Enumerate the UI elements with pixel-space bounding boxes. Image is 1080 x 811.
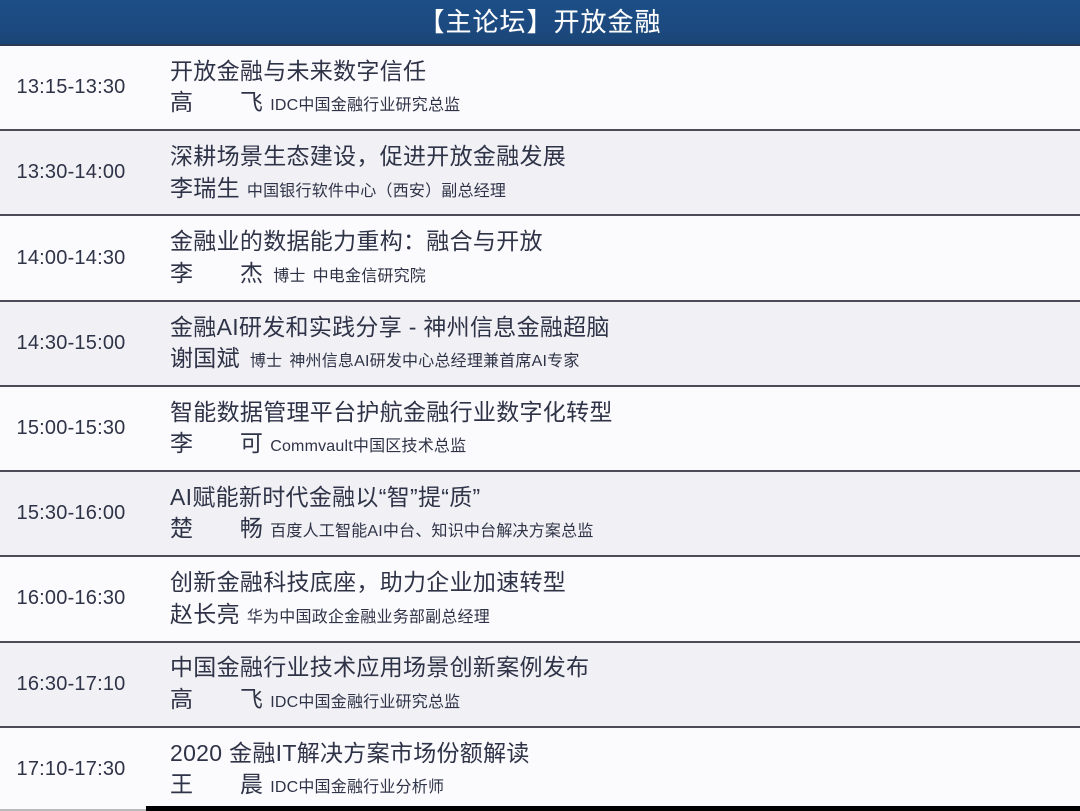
speaker-organization: IDC中国金融行业研究总监 [270, 693, 460, 714]
session-time-cell: 15:00-15:30 [0, 387, 146, 470]
session-time-cell: 17:10-17:30 [0, 728, 146, 811]
session-time: 13:30-14:00 [17, 161, 126, 184]
session-speaker-line: 李瑞生 中国银行软件中心（西安）副总经理 [170, 174, 1066, 204]
session-title: 创新金融科技底座，助力企业加速转型 [170, 568, 1066, 597]
session-detail-cell: 智能数据管理平台护航金融行业数字化转型 李 可 Commvault中国区技术总监 [146, 387, 1080, 470]
speaker-organization: 百度人工智能AI中台、知识中台解决方案总监 [270, 522, 593, 543]
speaker-name: 李 杰 [170, 259, 263, 289]
session-time-cell: 16:00-16:30 [0, 557, 146, 640]
table-row: 14:30-15:00 金融AI研发和实践分享 - 神州信息金融超脑 谢国斌 博… [0, 302, 1080, 387]
speaker-credential: 博士 [273, 267, 305, 288]
session-title: 开放金融与未来数字信任 [170, 57, 1066, 86]
session-detail-cell: 金融业的数据能力重构：融合与开放 李 杰 博士 中电金信研究院 [146, 216, 1080, 299]
speaker-organization: Commvault中国区技术总监 [270, 437, 466, 458]
session-speaker-line: 李 杰 博士 中电金信研究院 [170, 259, 1066, 289]
speaker-name: 高 飞 [170, 88, 263, 118]
session-speaker-line: 高 飞 IDC中国金融行业研究总监 [170, 685, 1066, 715]
table-row: 13:15-13:30 开放金融与未来数字信任 高 飞 IDC中国金融行业研究总… [0, 46, 1080, 131]
session-time: 13:15-13:30 [17, 76, 126, 99]
speaker-name: 谢国斌 [170, 344, 240, 374]
session-time: 14:30-15:00 [17, 332, 126, 355]
session-speaker-line: 王 晨 IDC中国金融行业分析师 [170, 770, 1066, 800]
table-row: 17:10-17:30 2020 金融IT解决方案市场份额解读 王 晨 IDC中… [0, 728, 1080, 811]
session-detail-cell: 创新金融科技底座，助力企业加速转型 赵长亮 华为中国政企金融业务部副总经理 [146, 557, 1080, 640]
table-row: 14:00-14:30 金融业的数据能力重构：融合与开放 李 杰 博士 中电金信… [0, 216, 1080, 301]
session-time: 16:00-16:30 [17, 587, 126, 610]
session-detail-cell: 深耕场景生态建设，促进开放金融发展 李瑞生 中国银行软件中心（西安）副总经理 [146, 131, 1080, 214]
session-time-cell: 13:30-14:00 [0, 131, 146, 214]
session-detail-cell: 开放金融与未来数字信任 高 飞 IDC中国金融行业研究总监 [146, 46, 1080, 129]
session-title: AI赋能新时代金融以“智”提“质” [170, 483, 1066, 512]
session-title: 深耕场景生态建设，促进开放金融发展 [170, 142, 1066, 171]
speaker-organization: 华为中国政企金融业务部副总经理 [247, 608, 490, 629]
session-detail-cell: 2020 金融IT解决方案市场份额解读 王 晨 IDC中国金融行业分析师 [146, 728, 1080, 811]
table-row: 16:30-17:10 中国金融行业技术应用场景创新案例发布 高 飞 IDC中国… [0, 643, 1080, 728]
session-title: 2020 金融IT解决方案市场份额解读 [170, 739, 1066, 768]
table-row: 15:30-16:00 AI赋能新时代金融以“智”提“质” 楚 畅 百度人工智能… [0, 472, 1080, 557]
session-time-cell: 14:00-14:30 [0, 216, 146, 299]
speaker-name: 楚 畅 [170, 514, 263, 544]
speaker-name: 高 飞 [170, 685, 263, 715]
agenda-card: 【主论坛】开放金融 13:15-13:30 开放金融与未来数字信任 高 飞 ID… [0, 0, 1080, 811]
speaker-organization: 神州信息AI研发中心总经理兼首席AI专家 [289, 352, 579, 373]
table-row: 15:00-15:30 智能数据管理平台护航金融行业数字化转型 李 可 Comm… [0, 387, 1080, 472]
session-title: 中国金融行业技术应用场景创新案例发布 [170, 653, 1066, 682]
page-title: 【主论坛】开放金融 [418, 9, 661, 35]
speaker-organization: 中国银行软件中心（西安）副总经理 [247, 182, 506, 203]
session-detail-cell: 中国金融行业技术应用场景创新案例发布 高 飞 IDC中国金融行业研究总监 [146, 643, 1080, 726]
session-time: 17:10-17:30 [17, 758, 126, 781]
speaker-name: 李瑞生 [170, 174, 240, 204]
speaker-name: 赵长亮 [170, 600, 240, 630]
bottom-rule [0, 806, 1080, 811]
session-time: 14:00-14:30 [17, 247, 126, 270]
session-time: 16:30-17:10 [17, 673, 126, 696]
table-row: 13:30-14:00 深耕场景生态建设，促进开放金融发展 李瑞生 中国银行软件… [0, 131, 1080, 216]
speaker-name: 李 可 [170, 429, 263, 459]
bottom-rule-right-segment [146, 806, 1080, 811]
session-time: 15:30-16:00 [17, 502, 126, 525]
session-speaker-line: 赵长亮 华为中国政企金融业务部副总经理 [170, 600, 1066, 630]
session-title: 金融AI研发和实践分享 - 神州信息金融超脑 [170, 313, 1066, 342]
session-detail-cell: 金融AI研发和实践分享 - 神州信息金融超脑 谢国斌 博士 神州信息AI研发中心… [146, 302, 1080, 385]
speaker-name: 王 晨 [170, 770, 263, 800]
session-detail-cell: AI赋能新时代金融以“智”提“质” 楚 畅 百度人工智能AI中台、知识中台解决方… [146, 472, 1080, 555]
session-time-cell: 13:15-13:30 [0, 46, 146, 129]
session-time-cell: 15:30-16:00 [0, 472, 146, 555]
agenda-table: 13:15-13:30 开放金融与未来数字信任 高 飞 IDC中国金融行业研究总… [0, 46, 1080, 811]
forum-header-bar: 【主论坛】开放金融 [0, 0, 1080, 46]
session-speaker-line: 李 可 Commvault中国区技术总监 [170, 429, 1066, 459]
session-title: 智能数据管理平台护航金融行业数字化转型 [170, 398, 1066, 427]
session-time-cell: 16:30-17:10 [0, 643, 146, 726]
session-speaker-line: 楚 畅 百度人工智能AI中台、知识中台解决方案总监 [170, 514, 1066, 544]
session-speaker-line: 高 飞 IDC中国金融行业研究总监 [170, 88, 1066, 118]
session-time-cell: 14:30-15:00 [0, 302, 146, 385]
session-speaker-line: 谢国斌 博士 神州信息AI研发中心总经理兼首席AI专家 [170, 344, 1066, 374]
session-time: 15:00-15:30 [17, 417, 126, 440]
speaker-organization: IDC中国金融行业分析师 [270, 778, 444, 799]
speaker-organization: IDC中国金融行业研究总监 [270, 96, 460, 117]
table-row: 16:00-16:30 创新金融科技底座，助力企业加速转型 赵长亮 华为中国政企… [0, 557, 1080, 642]
session-title: 金融业的数据能力重构：融合与开放 [170, 227, 1066, 256]
speaker-organization: 中电金信研究院 [313, 267, 426, 288]
speaker-credential: 博士 [250, 352, 282, 373]
